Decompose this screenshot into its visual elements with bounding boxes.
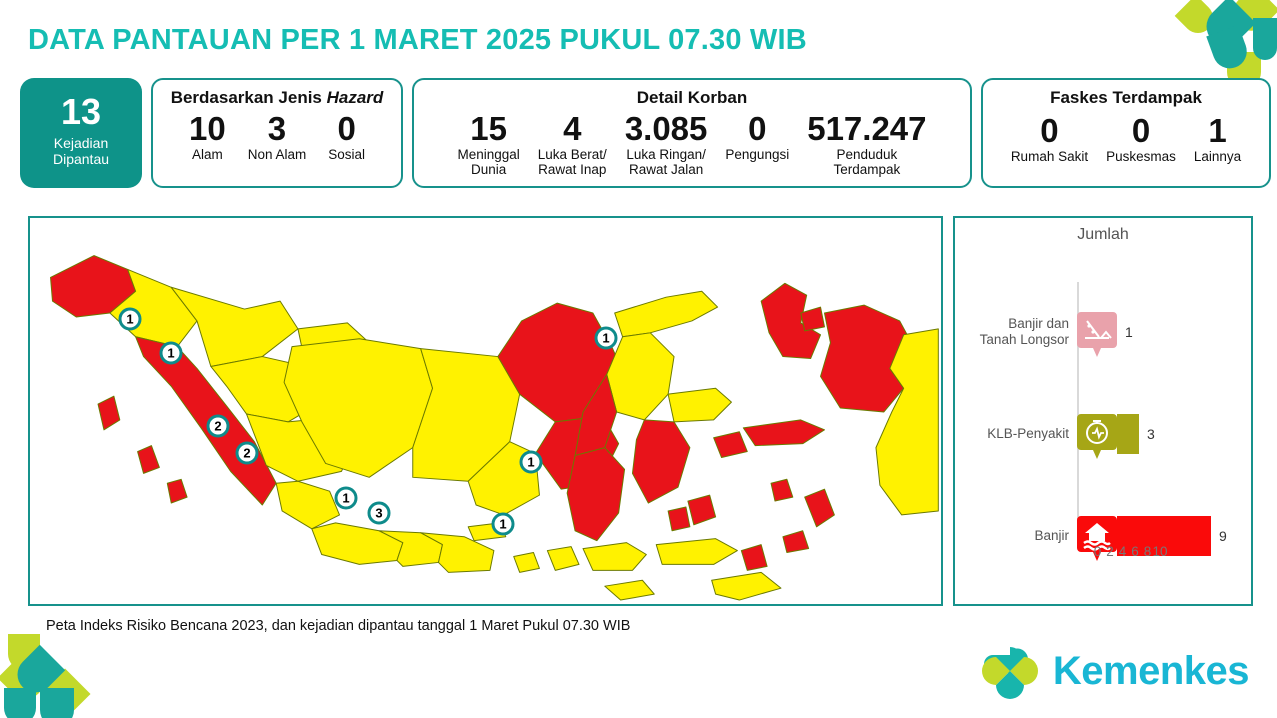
island-mentawai [138,446,160,474]
kemenkes-logo: Kemenkes [977,638,1249,704]
korban-luka-ringan-label1: Luka Ringan/ [626,147,706,162]
total-events-label-line1: Kejadian [54,135,109,151]
faskes-rumah-sakit-label: Rumah Sakit [1011,149,1088,165]
chart-title: Jumlah [955,226,1251,244]
chart-bar-label: KLB-Penyakit [939,426,1069,442]
island-sumbawa [583,543,646,571]
chart-bar-row: Banjir dan Tanah Longsor [955,306,1251,358]
indonesia-risk-map-panel: 1 1 2 2 1 3 1 1 1 [28,216,943,606]
map-marker[interactable]: 1 [119,308,142,331]
map-caption: Peta Indeks Risiko Bencana 2023, dan kej… [46,618,630,634]
korban-penduduk-label2: Terdampak [833,162,900,177]
province-sultra [632,420,689,503]
island-mentawai-2 [167,479,187,503]
faskes-lainnya-label: Lainnya [1194,149,1241,165]
hazard-alam-value: 10 [189,112,226,146]
korban-luka-ringan-value: 3.085 [625,112,708,146]
korban-metric-luka-berat: 4 Luka Berat/Rawat Inap [538,112,607,178]
province-sulteng [607,333,674,420]
island-muna [668,507,690,531]
map-marker[interactable]: 1 [595,327,618,350]
island-lombok [547,547,579,571]
province-lampung [276,481,339,529]
korban-pengungsi-value: 0 [748,112,766,146]
faskes-panel-title: Faskes Terdampak [1050,88,1202,108]
decoration-top-right [1157,0,1277,86]
chart-bar-value: 3 [1147,426,1155,442]
korban-meninggal-value: 15 [470,112,507,146]
korban-metric-meninggal: 15 MeninggalDunia [457,112,519,178]
korban-luka-berat-label1: Luka Berat/ [538,147,607,162]
island-seram [743,420,824,446]
chart-x-axis-ticks: 0 2 4 6 8 10 [1077,544,1227,559]
island-tanimbar [741,545,767,571]
korban-luka-berat-label2: Rawat Inap [538,162,606,177]
province-sulut-gorontalo [615,291,718,337]
island-papua-bits [801,307,825,331]
hazard-sosial-value: 0 [337,112,355,146]
island-bali [514,553,540,573]
map-marker[interactable]: 1 [160,342,183,365]
province-banten-jabar [312,523,403,565]
map-marker[interactable]: 3 [368,502,391,525]
disease-outbreak-icon [1077,414,1117,454]
korban-metric-penduduk-terdampak: 517.247 PendudukTerdampak [807,112,926,178]
hazard-non-alam-label: Non Alam [248,147,307,163]
hazard-title-plain: Berdasarkan Jenis [171,88,327,107]
island-flores [656,539,737,565]
korban-penduduk-value: 517.247 [807,112,926,146]
faskes-puskesmas-value: 0 [1132,114,1150,148]
faskes-rumah-sakit-value: 0 [1040,114,1058,148]
korban-metric-luka-ringan: 3.085 Luka Ringan/Rawat Jalan [625,112,708,178]
chart-bar-label: Banjir dan Tanah Longsor [939,316,1069,348]
chart-bar-row: KLB-Penyakit 3 [955,408,1251,460]
province-sulsel [567,448,624,541]
indonesia-map [30,218,941,604]
hazard-sosial-label: Sosial [328,147,365,163]
korban-luka-berat-value: 4 [563,112,581,146]
faskes-metric-lainnya: 1 Lainnya [1194,114,1241,164]
hazard-metric-alam: 10 Alam [189,112,226,162]
korban-panel: Detail Korban 15 MeninggalDunia 4 Luka B… [412,78,972,188]
faskes-puskesmas-label: Puskesmas [1106,149,1176,165]
korban-meninggal-label1: Meninggal [457,147,519,162]
map-marker[interactable]: 1 [492,513,515,536]
total-events-value: 13 [61,94,101,130]
korban-meninggal-label2: Dunia [471,162,506,177]
hazard-panel-title: Berdasarkan Jenis Hazard [171,88,384,108]
faskes-metric-rumah-sakit: 0 Rumah Sakit [1011,114,1088,164]
chart-bar[interactable]: 1 [1077,312,1133,352]
korban-panel-title: Detail Korban [637,88,748,108]
hazard-metric-non-alam: 3 Non Alam [248,112,307,162]
island-maluku-small-2 [771,479,793,501]
chart-plot-area: Banjir dan Tanah Longsor [955,244,1251,574]
map-marker[interactable]: 2 [207,415,230,438]
island-buton [688,495,716,525]
chart-bar-value: 1 [1125,324,1133,340]
hazard-panel: Berdasarkan Jenis Hazard 10 Alam 3 Non A… [151,78,403,188]
faskes-panel: Faskes Terdampak 0 Rumah Sakit 0 Puskesm… [981,78,1271,188]
hazard-title-italic: Hazard [327,88,384,107]
hazard-type-bar-chart-panel: Jumlah Banjir dan Tanah Longsor [953,216,1253,606]
page-title: DATA PANTAUAN PER 1 MARET 2025 PUKUL 07.… [28,24,807,57]
hazard-metric-sosial: 0 Sosial [328,112,365,162]
chart-bar-fill [1117,414,1139,454]
chart-bar-label: Banjir [939,528,1069,544]
decoration-bottom-left [0,632,120,718]
faskes-lainnya-value: 1 [1208,114,1226,148]
korban-metric-pengungsi: 0 Pengungsi [725,112,789,162]
korban-luka-ringan-label2: Rawat Jalan [629,162,703,177]
korban-pengungsi-label1: Pengungsi [725,147,789,162]
province-sulteng-east [668,388,731,422]
summary-stat-row: 13 Kejadian Dipantau Berdasarkan Jenis H… [20,78,1271,188]
hazard-alam-label: Alam [192,147,223,163]
island-sumba [605,580,654,600]
total-events-label-line2: Dipantau [53,151,109,167]
landslide-icon [1077,312,1117,352]
map-marker[interactable]: 1 [520,451,543,474]
faskes-metric-puskesmas: 0 Puskesmas [1106,114,1176,164]
map-marker[interactable]: 1 [335,487,358,510]
korban-penduduk-label1: Penduduk [836,147,897,162]
chart-bar[interactable]: 3 [1077,414,1155,454]
total-events-box: 13 Kejadian Dipantau [20,78,142,188]
chart-tick: 10 [1148,544,1173,559]
map-marker[interactable]: 2 [236,442,259,465]
island-aru [805,489,835,527]
chart-bar-value: 9 [1219,528,1227,544]
hazard-non-alam-value: 3 [268,112,286,146]
island-timor [712,572,781,600]
island-nias [98,396,120,430]
kemenkes-logo-icon [977,638,1043,704]
kemenkes-logo-text: Kemenkes [1053,649,1249,694]
island-kei [783,531,809,553]
island-buru [714,432,748,458]
